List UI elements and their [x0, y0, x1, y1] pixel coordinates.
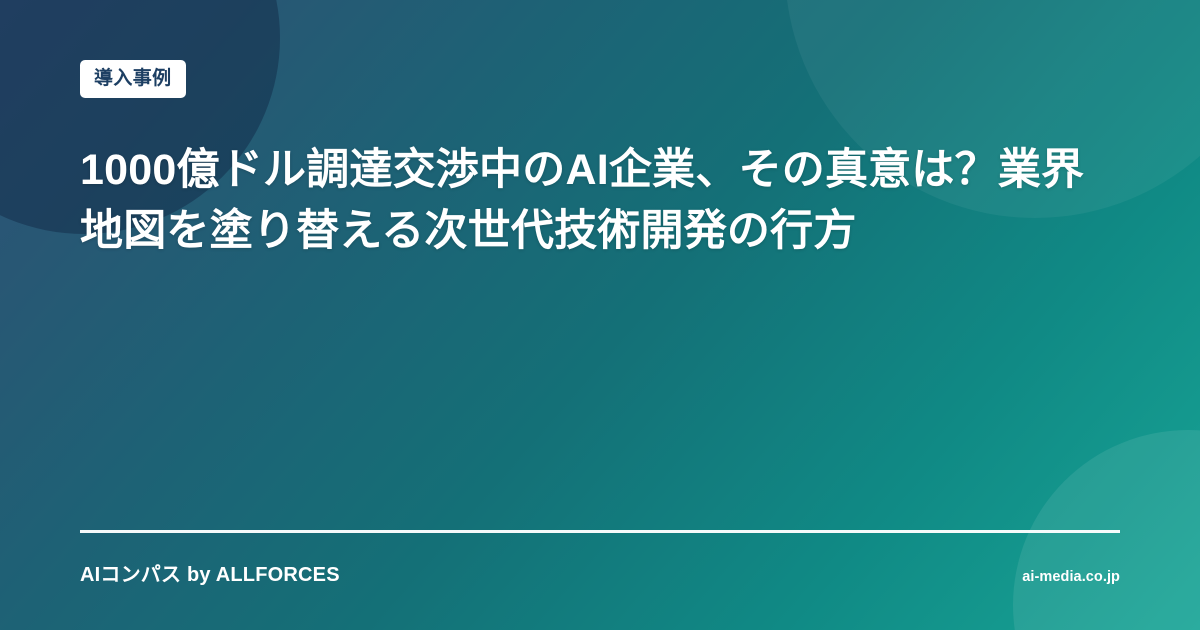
og-image-card: 導入事例 1000億ドル調達交渉中のAI企業、その真意は？業界地図を塗り替える次…	[0, 0, 1200, 630]
page-title: 1000億ドル調達交渉中のAI企業、その真意は？業界地図を塗り替える次世代技術開…	[80, 140, 1126, 262]
card-content: 導入事例 1000億ドル調達交渉中のAI企業、その真意は？業界地図を塗り替える次…	[0, 0, 1200, 630]
brand-name: AIコンパス by ALLFORCES	[80, 558, 340, 587]
footer-divider	[80, 530, 1120, 533]
category-badge: 導入事例	[80, 60, 186, 98]
card-footer: AIコンパス by ALLFORCES ai-media.co.jp	[80, 558, 1120, 587]
site-domain: ai-media.co.jp	[1022, 569, 1120, 585]
